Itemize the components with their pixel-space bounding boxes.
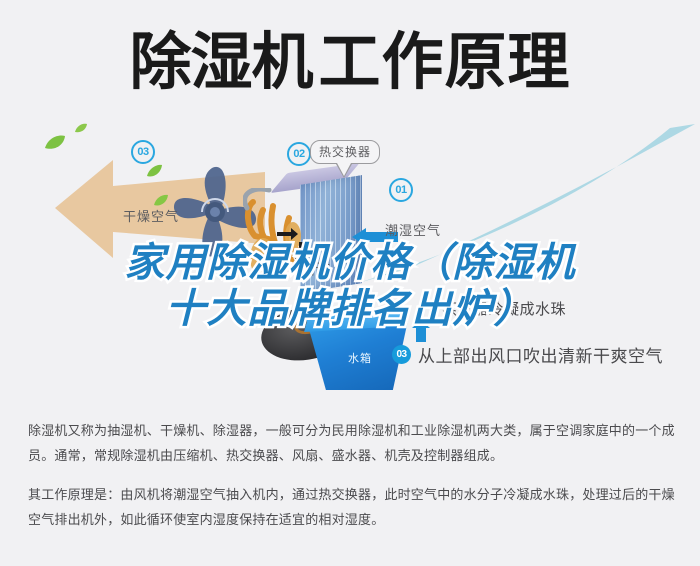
leaf-icon bbox=[44, 134, 66, 152]
step-caption-humid-air: 潮湿空气 bbox=[385, 220, 441, 239]
bottom-step-line: 03 从上部出风口吹出清新干爽空气 bbox=[392, 342, 663, 367]
step-badge-01: 01 bbox=[389, 178, 413, 202]
bottom-step-caption: 从上部出风口吹出清新干爽空气 bbox=[418, 342, 663, 367]
step-badge-02: 02 bbox=[287, 142, 311, 166]
article-paragraph-2: 其工作原理是：由风机将潮湿空气抽入机内，通过热交换器，此时空气中的水分子冷凝成水… bbox=[28, 482, 676, 532]
bottom-step-badge: 03 bbox=[392, 345, 411, 364]
watermark-line-2: 十大品牌排名出炉） bbox=[0, 286, 700, 332]
water-tank-label: 水箱 bbox=[348, 350, 372, 366]
page-root: 除湿机工作原理 bbox=[0, 0, 700, 566]
step-badge-03: 03 bbox=[131, 140, 155, 164]
watermark-line-1: 家用除湿机价格（除湿机 bbox=[0, 240, 700, 286]
article-paragraph-1: 除湿机又称为抽湿机、干燥机、除湿器，一般可分为民用除湿机和工业除湿机两大类，属于… bbox=[28, 418, 676, 468]
page-title: 除湿机工作原理 bbox=[0, 28, 700, 98]
article-body: 除湿机又称为抽湿机、干燥机、除湿器，一般可分为民用除湿机和工业除湿机两大类，属于… bbox=[28, 418, 676, 532]
leaf-icon bbox=[75, 123, 87, 134]
heat-exchanger-callout: 热交换器 bbox=[310, 140, 380, 164]
page-title-part-a: 除湿机 bbox=[129, 28, 312, 97]
page-title-part-b: 工作原理 bbox=[319, 28, 571, 97]
step-caption-dry-air: 干燥空气 bbox=[123, 206, 179, 225]
watermark-overlay: 家用除湿机价格（除湿机 十大品牌排名出炉） bbox=[0, 240, 700, 332]
